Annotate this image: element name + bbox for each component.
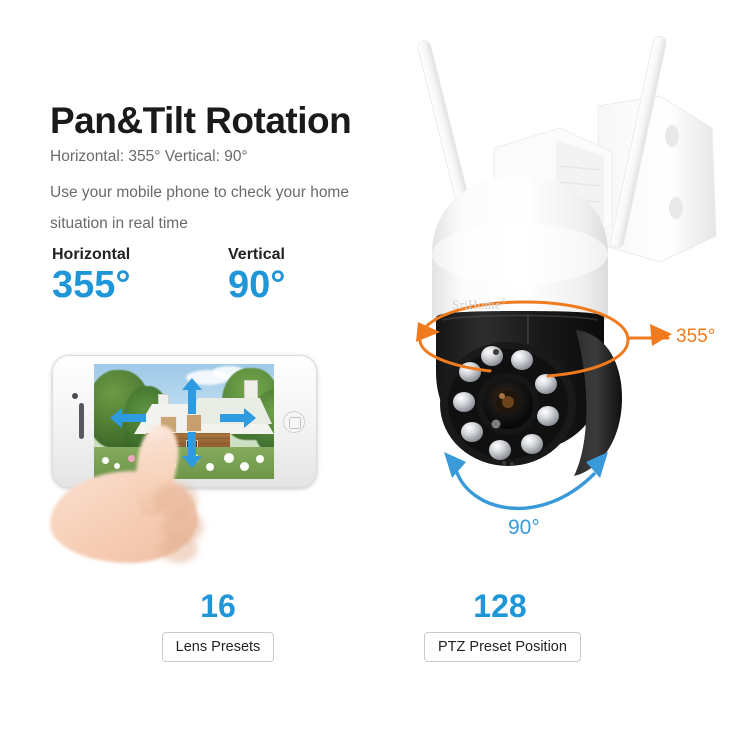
- product-feature-page: Pan&Tilt Rotation Horizontal: 355° Verti…: [0, 0, 750, 750]
- preset-ptz-caption: PTZ Preset Position: [424, 632, 581, 662]
- preset-lens-caption: Lens Presets: [162, 632, 275, 662]
- camera-illustration: [0, 0, 750, 600]
- camera-brand-text: SriHome: [452, 297, 501, 312]
- pan-angle-annotation: 355°: [676, 326, 715, 348]
- preset-ptz: 128 PTZ Preset Position: [424, 590, 576, 662]
- preset-lens: 16 Lens Presets: [152, 590, 284, 662]
- tilt-angle-annotation: 90°: [508, 516, 540, 540]
- camera-brand-logo: SriHome®: [452, 297, 507, 313]
- registered-mark: ®: [501, 298, 507, 306]
